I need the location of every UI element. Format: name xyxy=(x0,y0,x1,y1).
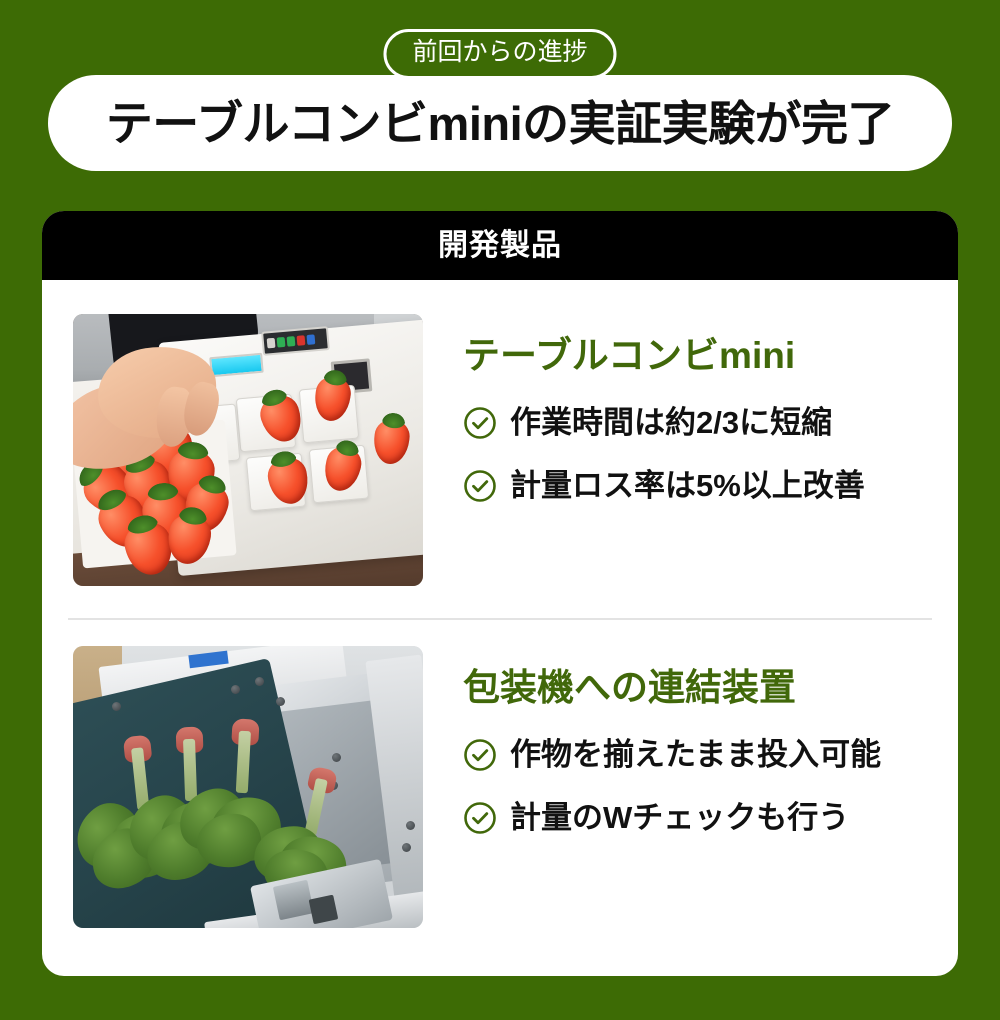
feature-list: 作業時間は約2/3に短縮 計量ロス率は5%以上改善 xyxy=(463,405,934,504)
page-header: テーブルコンビminiの実証実験が完了 前回からの進捗 xyxy=(0,0,1000,200)
check-circle-icon xyxy=(463,738,497,772)
product-info: 包装機への連結装置 作物を揃えたまま投入可能 xyxy=(423,646,934,836)
feature-item: 計量のWチェックも行う xyxy=(463,800,934,836)
check-circle-icon xyxy=(463,406,497,440)
feature-text: 計量ロス率は5%以上改善 xyxy=(510,468,865,504)
feature-text: 作業時間は約2/3に短縮 xyxy=(510,405,832,441)
feature-text: 作物を揃えたまま投入可能 xyxy=(510,737,881,773)
check-circle-icon xyxy=(463,801,497,835)
footer-spacer xyxy=(0,976,1000,1020)
product-title: テーブルコンビmini xyxy=(463,336,934,377)
title-pill: テーブルコンビminiの実証実験が完了 xyxy=(48,75,952,171)
product-photo-table-combi-mini xyxy=(73,314,423,586)
progress-badge-label: 前回からの進捗 xyxy=(412,39,587,67)
feature-text: 計量のWチェックも行う xyxy=(510,800,849,836)
feature-item: 作業時間は約2/3に短縮 xyxy=(463,405,934,441)
page-title: テーブルコンビminiの実証実験が完了 xyxy=(106,100,894,147)
card-body: テーブルコンビmini 作業時間は約2/3に短縮 xyxy=(42,280,958,928)
product-row: 包装機への連結装置 作物を揃えたまま投入可能 xyxy=(42,620,958,928)
check-circle-icon xyxy=(463,469,497,503)
product-photo-packaging-linkage xyxy=(73,646,423,928)
product-info: テーブルコンビmini 作業時間は約2/3に短縮 xyxy=(423,314,934,504)
progress-badge: 前回からの進捗 xyxy=(383,29,616,79)
feature-item: 計量ロス率は5%以上改善 xyxy=(463,468,934,504)
feature-item: 作物を揃えたまま投入可能 xyxy=(463,737,934,773)
product-card: 開発製品 xyxy=(42,211,958,976)
card-header-bar: 開発製品 xyxy=(42,211,958,280)
product-title: 包装機への連結装置 xyxy=(463,668,934,709)
feature-list: 作物を揃えたまま投入可能 計量のWチェックも行う xyxy=(463,737,934,836)
product-row: テーブルコンビmini 作業時間は約2/3に短縮 xyxy=(42,280,958,586)
card-header-label: 開発製品 xyxy=(438,231,562,261)
